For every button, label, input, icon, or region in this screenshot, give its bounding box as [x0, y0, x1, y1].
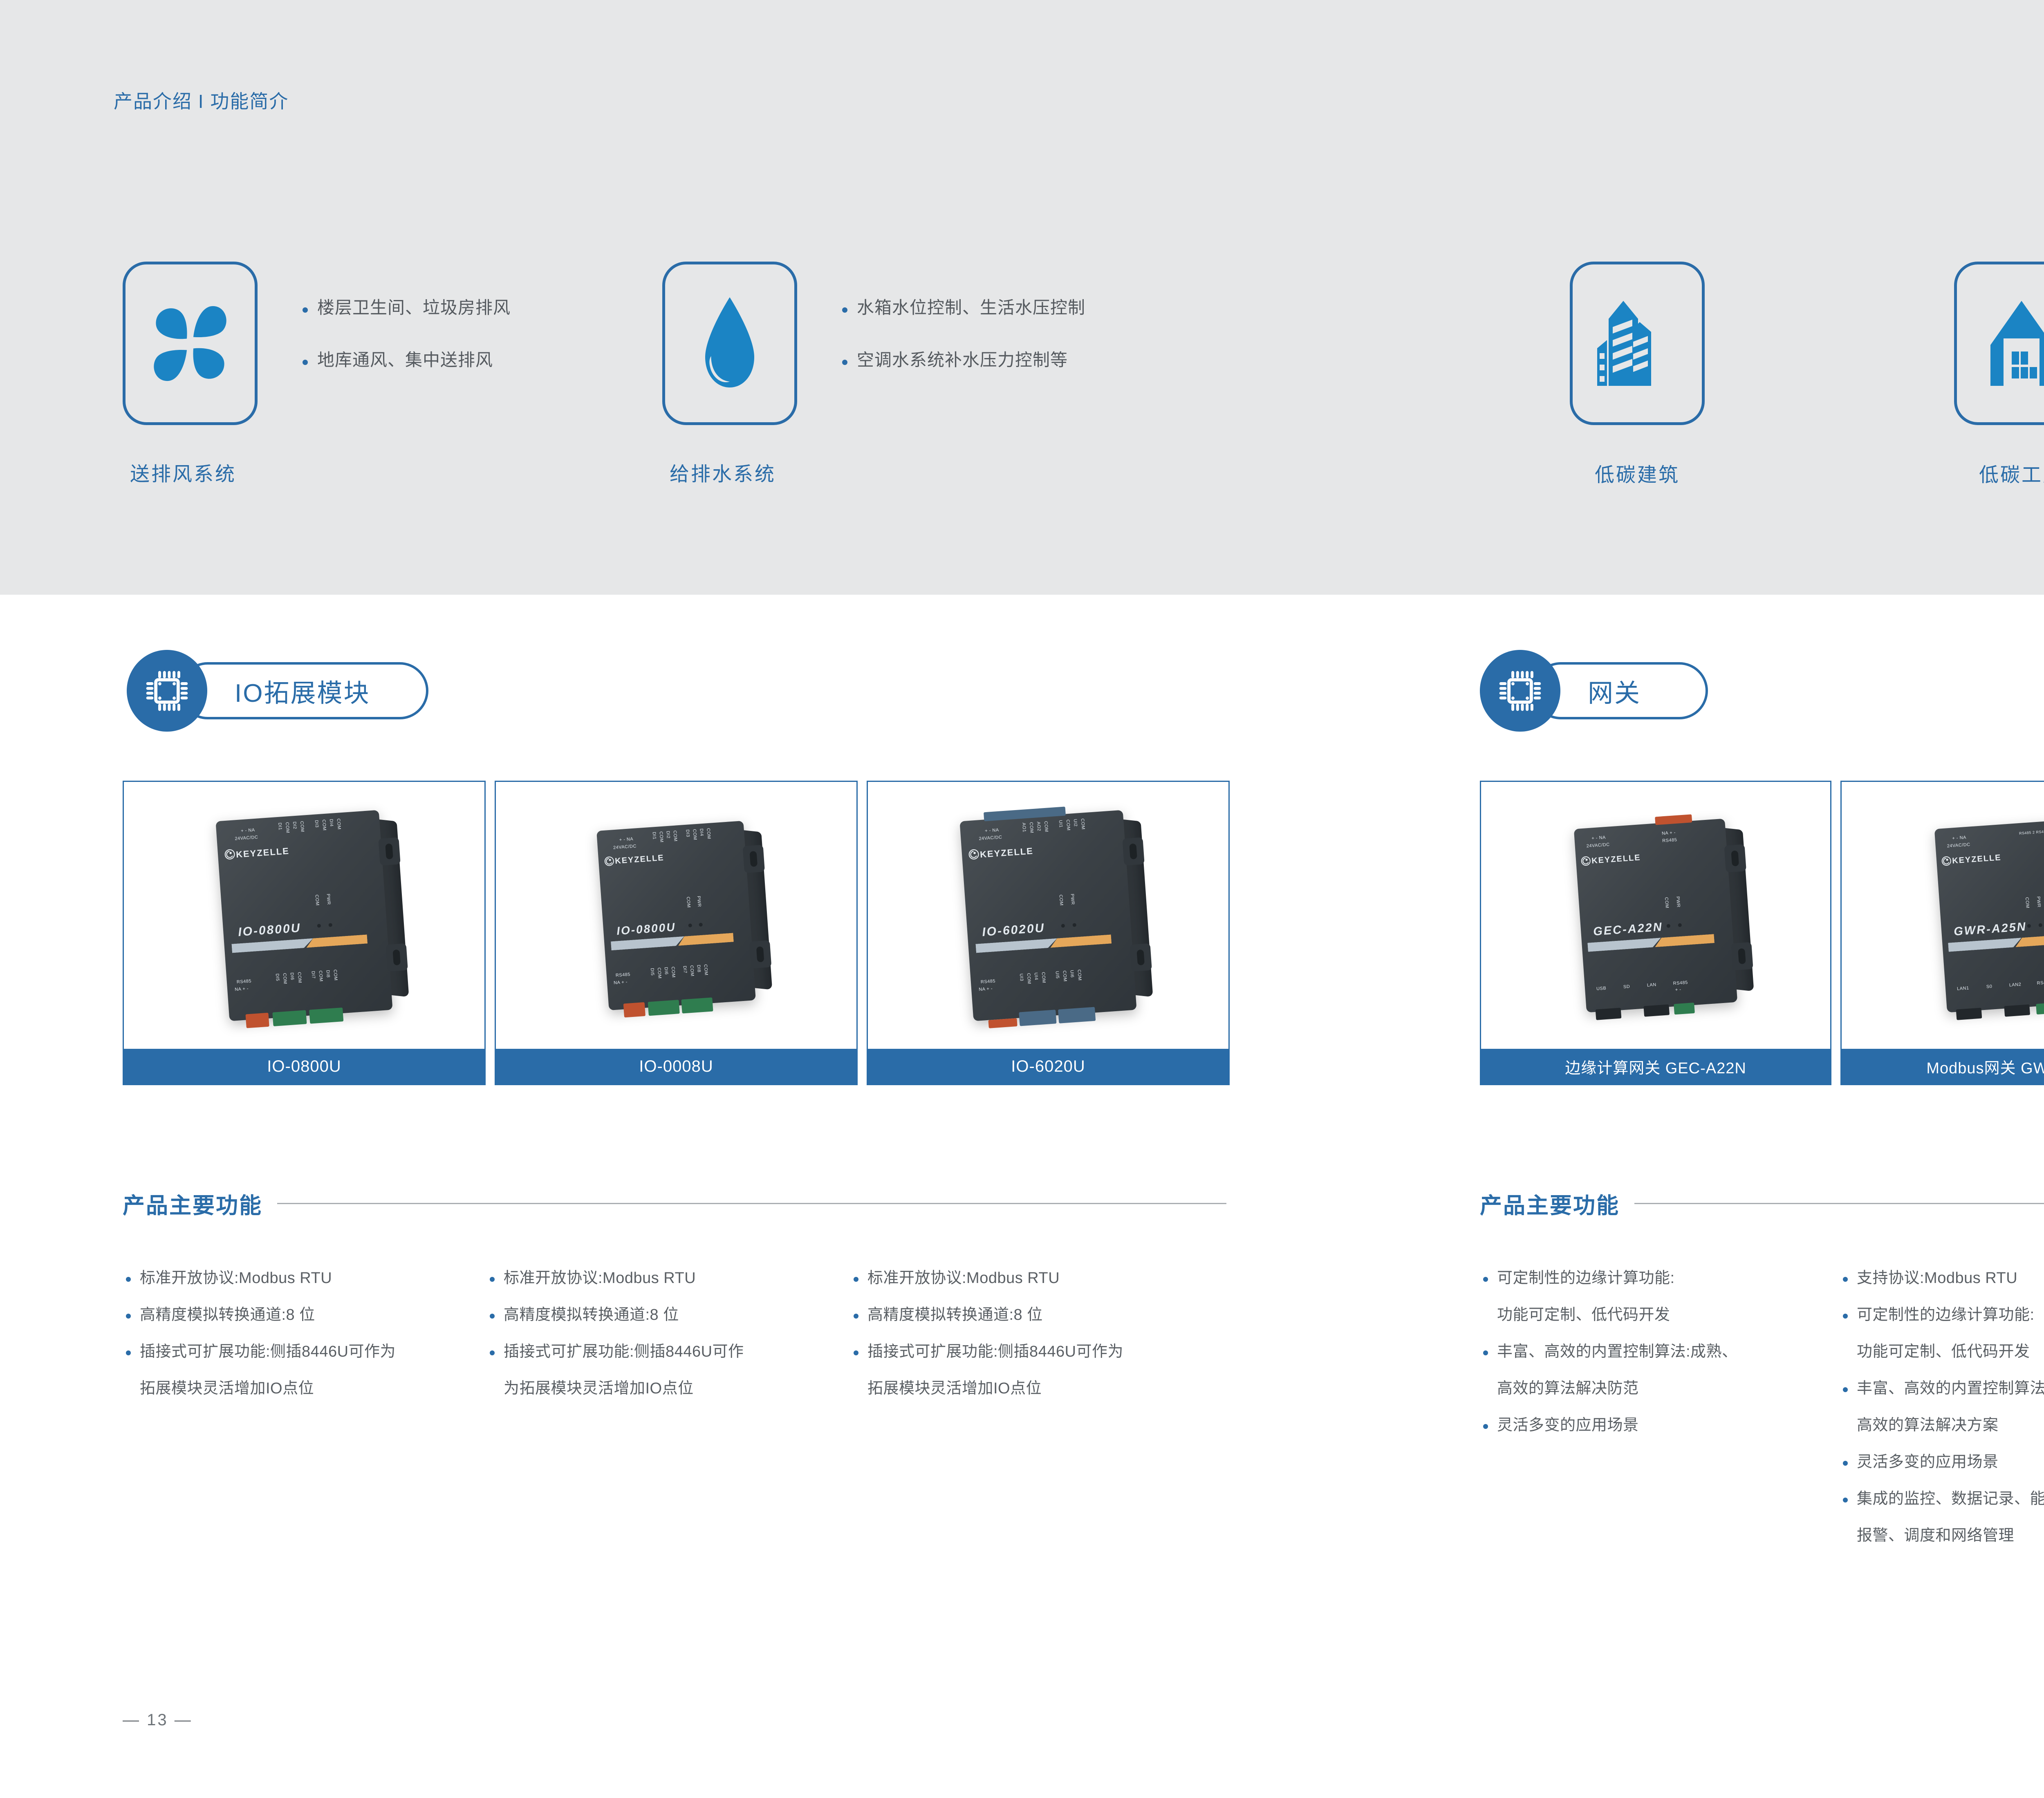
- product-image-io-0800u: + - NA 24VAC/DC DI1 COM DI2 COM DI3 COM …: [124, 782, 484, 1049]
- product-card-label: Modbus网关 GWR-A25N: [1842, 1049, 2044, 1084]
- list-item: 水箱水位控制、生活水压控制: [840, 299, 1085, 316]
- list-item: 空调水系统补水压力控制等: [840, 352, 1085, 369]
- low-carbon-factory: 低碳工厂: [1954, 262, 2044, 487]
- device-power-label: + - NA: [1591, 835, 1606, 841]
- list-item: 支持协议:Modbus RTU: [1841, 1270, 2044, 1286]
- device-brand: KEYZELLE: [615, 853, 665, 866]
- keyzelle-logo-icon: [1941, 855, 1952, 866]
- product-card-label: 边缘计算网关 GEC-A22N: [1481, 1049, 1830, 1084]
- features-column: 标准开放协议:Modbus RTU 高精度模拟转换通道:8 位 插接式可扩展功能…: [124, 1270, 488, 1417]
- device-illustration: + - NA 24VAC/DC DI1 COM DI2 COM DI3 COM …: [596, 820, 756, 1010]
- list-item-continuation: 报警、调度和网络管理: [1841, 1528, 2044, 1543]
- product-card[interactable]: + - NA 24VAC/DC AO1 COM AO2 COM UI1 COM …: [867, 781, 1230, 1085]
- features-column: 标准开放协议:Modbus RTU 高精度模拟转换通道:8 位 插接式可扩展功能…: [488, 1270, 852, 1417]
- device-rs485-sub: NA + -: [979, 986, 993, 992]
- low-carbon-building-caption: 低碳建筑: [1570, 459, 1705, 487]
- device-model: IO-6020U: [982, 921, 1045, 939]
- device-power-sub: 24VAC/DC: [613, 844, 637, 850]
- product-card[interactable]: + - NA 24VAC/DC DI1 COM DI2 COM DI3 COM …: [123, 781, 486, 1085]
- device-rs485-sub: NA + -: [235, 986, 249, 992]
- water-bullet-list: 水箱水位控制、生活水压控制 空调水系统补水压力控制等: [840, 262, 1085, 404]
- list-item-continuation: 功能可定制、低代码开发: [1841, 1344, 2044, 1359]
- chip-icon: [1495, 665, 1546, 717]
- divider: [1634, 1203, 2044, 1204]
- device-rs485-label: RS485: [237, 978, 252, 984]
- device-brand: KEYZELLE: [235, 846, 289, 860]
- section-header-io: IO拓展模块: [127, 650, 429, 732]
- product-image-gec-a22n: + - NA 24VAC/DC NA + - RS485 KEYZELLE GE…: [1481, 782, 1830, 1049]
- features-title: 产品主要功能: [123, 1187, 262, 1220]
- section-header-gateway: 网关: [1480, 650, 1709, 732]
- device-power-sub: 24VAC/DC: [979, 835, 1002, 841]
- scenario-ventilation: 楼层卫生间、垃圾房排风 地库通风、集中送排风: [123, 262, 511, 425]
- device-rs485-label: RS485: [615, 972, 630, 978]
- list-item: 灵活多变的应用场景: [1841, 1454, 2044, 1470]
- io-product-card-list: + - NA 24VAC/DC DI1 COM DI2 COM DI3 COM …: [123, 781, 1230, 1085]
- list-item: 高精度模拟转换通道:8 位: [124, 1307, 488, 1323]
- keyzelle-logo-icon: [1580, 855, 1591, 866]
- product-card[interactable]: + - NA 24VAC/DC DI1 COM DI2 COM DI3 COM …: [495, 781, 858, 1085]
- device-brand: KEYZELLE: [1591, 853, 1641, 866]
- chip-icon: [141, 665, 193, 717]
- gateway-product-card-list: + - NA 24VAC/DC NA + - RS485 KEYZELLE GE…: [1480, 781, 2044, 1085]
- product-card-label: IO-0800U: [124, 1049, 484, 1084]
- page-header-left: 产品介绍 I 功能简介: [114, 87, 289, 114]
- water-drop-icon-box: [662, 262, 797, 425]
- product-card-label: IO-0008U: [496, 1049, 856, 1084]
- office-buildings-icon-box: [1570, 262, 1705, 425]
- factory-icon-box: [1954, 262, 2044, 425]
- list-item-continuation: 为拓展模块灵活增加IO点位: [488, 1381, 852, 1396]
- features-columns-gateway: 可定制性的边缘计算功能: 功能可定制、低代码开发 丰富、高效的内置控制算法:成熟…: [1481, 1270, 2044, 1565]
- list-item-continuation: 拓展模块灵活增加IO点位: [852, 1381, 1216, 1396]
- list-item: 灵活多变的应用场景: [1481, 1417, 1841, 1433]
- brochure-page: 产品介绍 I 功能简介 产品介绍 I 功能简介 楼层卫生间、垃圾房排风 地库通风…: [0, 0, 2044, 1798]
- list-item: 楼层卫生间、垃圾房排风: [300, 299, 511, 316]
- features-column: 标准开放协议:Modbus RTU 高精度模拟转换通道:8 位 插接式可扩展功能…: [852, 1270, 1216, 1417]
- fan-icon-box: [123, 262, 258, 425]
- device-illustration: + - NA 24VAC/DC RS485 2 RS485 1 RS485 2 …: [1934, 818, 2044, 1012]
- list-item: 标准开放协议:Modbus RTU: [124, 1270, 488, 1286]
- list-item: 插接式可扩展功能:侧插8446U可作: [488, 1344, 852, 1359]
- list-item: 插接式可扩展功能:侧插8446U可作为: [124, 1344, 488, 1359]
- list-item: 丰富、高效的内置控制算法:成熟、: [1841, 1381, 2044, 1396]
- scenario-water: 水箱水位控制、生活水压控制 空调水系统补水压力控制等: [662, 262, 1085, 425]
- fan-icon: [149, 300, 231, 387]
- section-title-gateway: 网关: [1588, 672, 1641, 709]
- product-card[interactable]: + - NA 24VAC/DC RS485 2 RS485 1 RS485 2 …: [1840, 781, 2044, 1085]
- list-item: 可定制性的边缘计算功能:: [1481, 1270, 1841, 1286]
- divider: [277, 1203, 1226, 1204]
- keyzelle-logo-icon: [968, 849, 979, 860]
- device-rs485-label: RS485: [981, 978, 996, 984]
- features-header-io: 产品主要功能: [123, 1187, 1226, 1220]
- page-number-left: — 13 —: [123, 1711, 193, 1729]
- device-power-label: + - NA: [985, 827, 999, 833]
- device-power-label: + - NA: [241, 827, 255, 833]
- features-column: 支持协议:Modbus RTU 可定制性的边缘计算功能: 功能可定制、低代码开发…: [1841, 1270, 2044, 1565]
- device-power-sub: 24VAC/DC: [235, 835, 258, 841]
- features-columns-io: 标准开放协议:Modbus RTU 高精度模拟转换通道:8 位 插接式可扩展功能…: [124, 1270, 1216, 1417]
- device-power-label: + - NA: [619, 836, 633, 842]
- device-brand: KEYZELLE: [979, 846, 1033, 860]
- water-drop-icon: [695, 294, 764, 392]
- device-power-sub: 24VAC/DC: [1586, 842, 1610, 849]
- list-item: 标准开放协议:Modbus RTU: [852, 1270, 1216, 1286]
- list-item: 高精度模拟转换通道:8 位: [488, 1307, 852, 1323]
- list-item-continuation: 高效的算法解决方案: [1841, 1417, 2044, 1433]
- low-carbon-building: 低碳建筑: [1570, 262, 1705, 487]
- list-item: 可定制性的边缘计算功能:: [1841, 1307, 2044, 1323]
- keyzelle-logo-icon: [604, 856, 615, 867]
- chip-icon-circle: [127, 650, 207, 732]
- list-item: 插接式可扩展功能:侧插8446U可作为: [852, 1344, 1216, 1359]
- scenario-ventilation-caption: 送排风系统: [130, 458, 236, 486]
- list-item-continuation: 拓展模块灵活增加IO点位: [124, 1381, 488, 1396]
- device-illustration: + - NA 24VAC/DC NA + - RS485 KEYZELLE GE…: [1574, 818, 1737, 1012]
- device-brand: KEYZELLE: [1952, 853, 2002, 866]
- product-card-label: IO-6020U: [868, 1049, 1228, 1084]
- chip-icon-circle: [1480, 650, 1560, 732]
- device-power-sub: 24VAC/DC: [1947, 842, 1970, 849]
- office-buildings-icon: [1592, 294, 1682, 392]
- device-rs485-sub: RS485: [1662, 837, 1677, 843]
- ventilation-bullet-list: 楼层卫生间、垃圾房排风 地库通风、集中送排风: [300, 262, 511, 404]
- product-image-io-0008u: + - NA 24VAC/DC DI1 COM DI2 COM DI3 COM …: [496, 782, 856, 1049]
- product-image-io-6020u: + - NA 24VAC/DC AO1 COM AO2 COM UI1 COM …: [868, 782, 1228, 1049]
- scenario-water-caption: 给排水系统: [670, 458, 776, 486]
- list-item: 丰富、高效的内置控制算法:成熟、: [1481, 1344, 1841, 1359]
- device-rs485-label: NA + -: [1662, 830, 1676, 836]
- low-carbon-factory-caption: 低碳工厂: [1954, 459, 2044, 487]
- device-illustration: + - NA 24VAC/DC DI1 COM DI2 COM DI3 COM …: [215, 810, 392, 1021]
- product-card[interactable]: + - NA 24VAC/DC NA + - RS485 KEYZELLE GE…: [1480, 781, 1831, 1085]
- factory-icon: [1981, 294, 2044, 392]
- section-title-io: IO拓展模块: [235, 672, 370, 709]
- device-power-label: + - NA: [1952, 835, 1966, 841]
- list-item: 高精度模拟转换通道:8 位: [852, 1307, 1216, 1323]
- device-illustration: + - NA 24VAC/DC AO1 COM AO2 COM UI1 COM …: [959, 810, 1136, 1021]
- device-rs485-sub: NA + -: [614, 979, 628, 985]
- device-model: GEC-A22N: [1593, 920, 1663, 938]
- device-model: GWR-A25N: [1953, 920, 2027, 938]
- list-item: 集成的监控、数据记录、能耗计量、: [1841, 1491, 2044, 1507]
- device-model: IO-0800U: [616, 920, 676, 938]
- product-image-gwr-a25n: + - NA 24VAC/DC RS485 2 RS485 1 RS485 2 …: [1842, 782, 2044, 1049]
- list-item-continuation: 功能可定制、低代码开发: [1481, 1307, 1841, 1323]
- keyzelle-logo-icon: [224, 849, 235, 860]
- list-item: 标准开放协议:Modbus RTU: [488, 1270, 852, 1286]
- features-header-gateway: 产品主要功能: [1480, 1187, 2044, 1220]
- device-model: IO-0800U: [238, 921, 301, 939]
- pill-outline: IO拓展模块: [179, 662, 428, 719]
- features-column: 可定制性的边缘计算功能: 功能可定制、低代码开发 丰富、高效的内置控制算法:成熟…: [1481, 1270, 1841, 1565]
- list-item-continuation: 高效的算法解决防范: [1481, 1381, 1841, 1396]
- list-item: 地库通风、集中送排风: [300, 352, 511, 369]
- features-title: 产品主要功能: [1480, 1187, 1620, 1220]
